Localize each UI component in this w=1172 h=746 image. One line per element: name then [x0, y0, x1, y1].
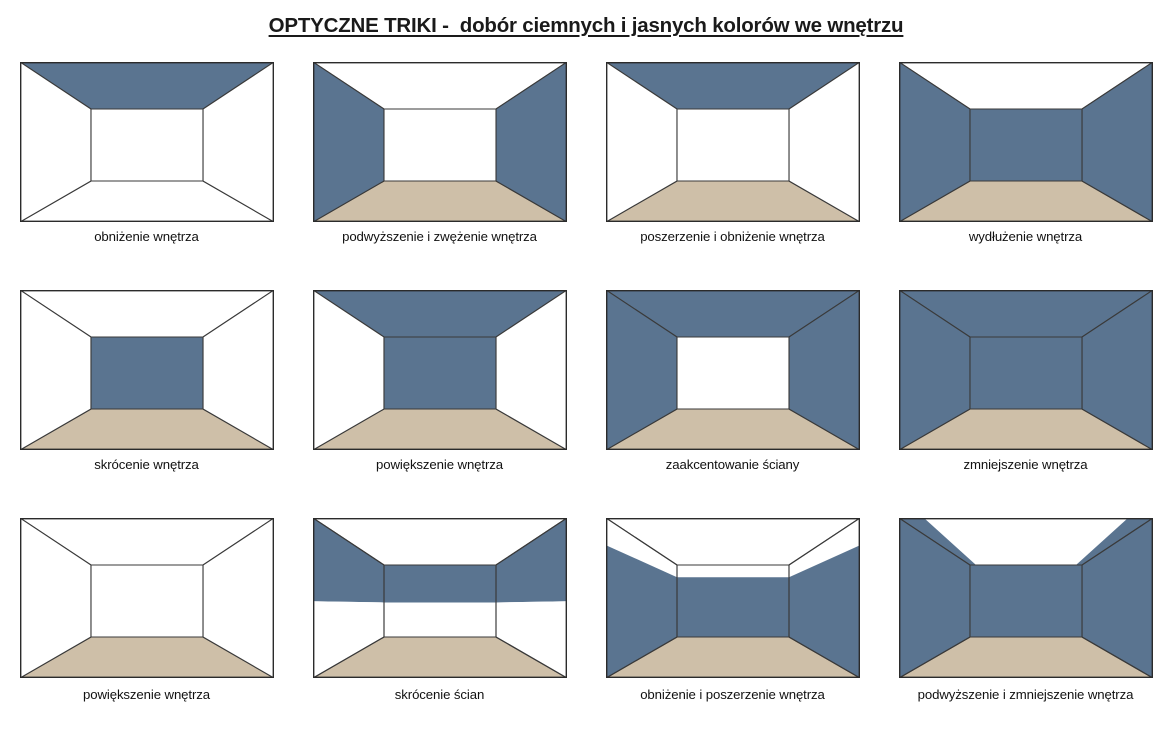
diagram-cell-9: powiększenie wnętrza — [0, 518, 293, 746]
diagram-grid: obniżenie wnętrzapodwyższenie i zwężenie… — [0, 62, 1172, 736]
diagram-caption: skrócenie wnętrza — [94, 457, 199, 472]
diagram-cell-12: podwyższenie i zmniejszenie wnętrza — [879, 518, 1172, 746]
page-title: OPTYCZNE TRIKI - dobór ciemnych i jasnyc… — [0, 14, 1172, 38]
diagram-cell-3: poszerzenie i obniżenie wnętrza — [586, 62, 879, 290]
diagram-caption: zmniejszenie wnętrza — [963, 457, 1087, 472]
room-diagram — [899, 62, 1153, 222]
diagram-caption: powiększenie wnętrza — [83, 687, 210, 702]
diagram-caption: podwyższenie i zmniejszenie wnętrza — [918, 687, 1134, 702]
diagram-caption: poszerzenie i obniżenie wnętrza — [640, 229, 825, 244]
diagram-cell-10: skrócenie ścian — [293, 518, 586, 746]
diagram-caption: podwyższenie i zwężenie wnętrza — [342, 229, 537, 244]
room-diagram — [606, 290, 860, 450]
room-diagram — [313, 290, 567, 450]
page-title-text: OPTYCZNE TRIKI - dobór ciemnych i jasnyc… — [269, 14, 904, 37]
diagram-caption: wydłużenie wnętrza — [969, 229, 1082, 244]
diagram-cell-7: zaakcentowanie ściany — [586, 290, 879, 518]
diagram-cell-6: powiększenie wnętrza — [293, 290, 586, 518]
room-diagram — [20, 290, 274, 450]
infographic-page: OPTYCZNE TRIKI - dobór ciemnych i jasnyc… — [0, 0, 1172, 736]
diagram-caption: zaakcentowanie ściany — [666, 457, 800, 472]
diagram-cell-11: obniżenie i poszerzenie wnętrza — [586, 518, 879, 746]
room-diagram — [313, 518, 567, 678]
room-diagram — [606, 62, 860, 222]
diagram-caption: skrócenie ścian — [395, 687, 484, 702]
room-diagram — [899, 518, 1153, 678]
diagram-cell-8: zmniejszenie wnętrza — [879, 290, 1172, 518]
diagram-cell-5: skrócenie wnętrza — [0, 290, 293, 518]
diagram-caption: powiększenie wnętrza — [376, 457, 503, 472]
room-diagram — [20, 518, 274, 678]
room-diagram — [606, 518, 860, 678]
room-diagram — [20, 62, 274, 222]
diagram-cell-4: wydłużenie wnętrza — [879, 62, 1172, 290]
room-diagram — [313, 62, 567, 222]
room-diagram — [899, 290, 1153, 450]
diagram-caption: obniżenie wnętrza — [94, 229, 199, 244]
diagram-caption: obniżenie i poszerzenie wnętrza — [640, 687, 825, 702]
diagram-cell-2: podwyższenie i zwężenie wnętrza — [293, 62, 586, 290]
diagram-cell-1: obniżenie wnętrza — [0, 62, 293, 290]
